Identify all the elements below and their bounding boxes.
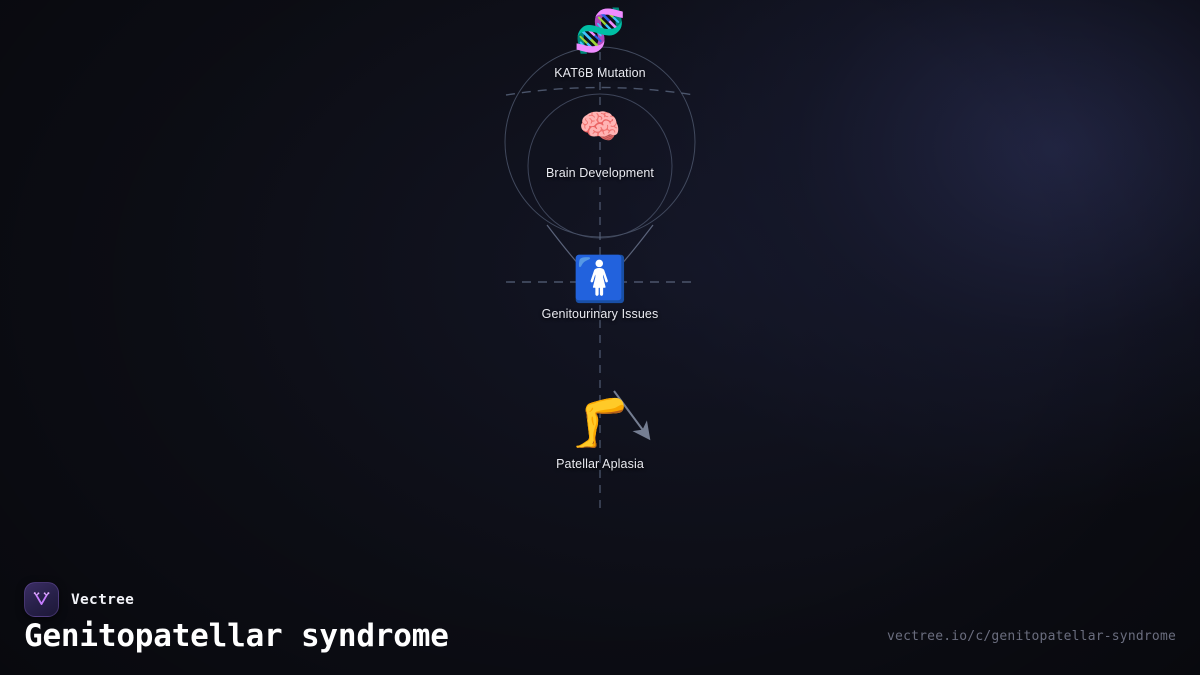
graph-node-genitourinary-issues[interactable]: 🚺 Genitourinary Issues (542, 258, 659, 321)
concept-graph-canvas[interactable]: 🧬 KAT6B Mutation 🧠 Brain Development 🚺 G… (0, 0, 1200, 560)
page-title: Genitopatellar syndrome (24, 618, 449, 654)
graph-node-patellar-aplasia[interactable]: 🦵 Patellar Aplasia (556, 399, 644, 471)
brand-row[interactable]: Vectree (24, 582, 134, 617)
footer-url: vectree.io/c/genitopatellar-syndrome (887, 629, 1176, 644)
graph-node-brain-development[interactable]: 🧠 Brain Development (546, 110, 654, 180)
leg-icon: 🦵 (570, 399, 630, 447)
graph-node-kat6b-mutation[interactable]: 🧬 KAT6B Mutation (554, 10, 646, 80)
logo-glyph (31, 589, 52, 610)
graph-node-label: Brain Development (546, 166, 654, 180)
vectree-tree-logo-icon (24, 582, 59, 617)
restroom-icon: 🚺 (573, 258, 628, 302)
graph-node-label: Patellar Aplasia (556, 457, 644, 471)
dna-icon: 🧬 (574, 10, 626, 52)
graph-node-label: KAT6B Mutation (554, 66, 646, 80)
footer-bar: Vectree Genitopatellar syndrome vectree.… (0, 565, 1200, 675)
brain-icon: 🧠 (579, 110, 621, 144)
graph-node-label: Genitourinary Issues (542, 307, 659, 321)
brand-name: Vectree (71, 592, 134, 608)
